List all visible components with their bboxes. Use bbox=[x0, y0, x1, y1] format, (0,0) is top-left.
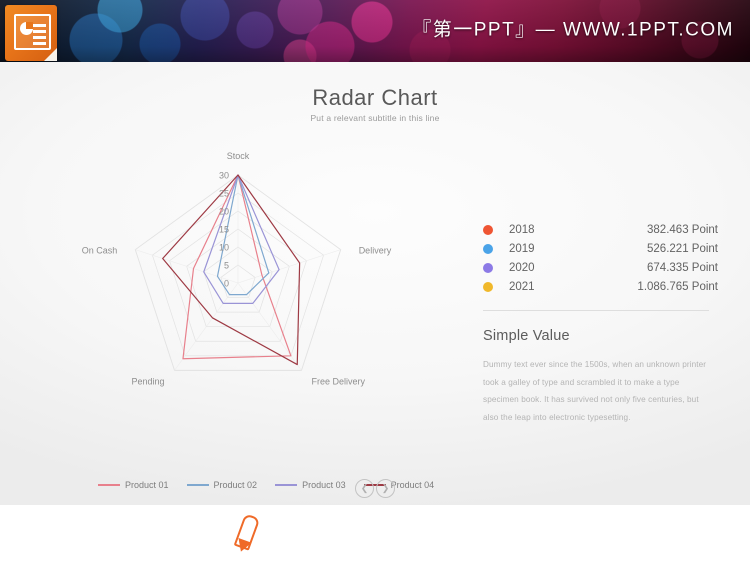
panel-divider bbox=[483, 310, 709, 311]
value-legend-dot bbox=[483, 244, 493, 254]
radar-tick-labels: 051015202530 bbox=[219, 171, 229, 289]
logo-bar-1 bbox=[33, 24, 46, 27]
product-legend-label: Product 01 bbox=[125, 480, 169, 490]
series-3 bbox=[204, 175, 279, 303]
product-legend-label: Product 04 bbox=[391, 480, 435, 490]
value-legend-year: 2020 bbox=[509, 262, 571, 274]
product-legend-item[interactable]: Product 03 bbox=[275, 480, 346, 490]
simple-value-body: Dummy text ever since the 1500s, when an… bbox=[483, 356, 711, 427]
axis-label-pending: Pending bbox=[131, 376, 164, 386]
value-legend-row[interactable]: 2018382.463 Point bbox=[483, 220, 718, 239]
logo-bar-3 bbox=[33, 36, 46, 39]
axis-label-free-delivery: Free Delivery bbox=[312, 376, 366, 386]
radar-axis-labels: StockDeliveryFree DeliveryPendingOn Cash bbox=[82, 151, 392, 386]
tick-label-20: 20 bbox=[219, 207, 229, 217]
value-legend-row[interactable]: 20211.086.765 Point bbox=[483, 277, 718, 296]
prev-slide-button[interactable]: ❮ bbox=[355, 479, 374, 498]
value-legend-dot bbox=[483, 282, 493, 292]
axis-label-stock: Stock bbox=[227, 151, 250, 161]
slide-canvas: Radar Chart Put a relevant subtitle in t… bbox=[0, 62, 750, 505]
tick-label-30: 30 bbox=[219, 171, 229, 181]
value-legend-value: 1.086.765 Point bbox=[571, 281, 718, 293]
page-title: Radar Chart bbox=[0, 85, 750, 111]
slide-page: 『第一PPT』— WWW.1PPT.COM Radar Chart Put a … bbox=[0, 0, 750, 563]
top-banner: 『第一PPT』— WWW.1PPT.COM bbox=[0, 0, 750, 62]
pencil-icon bbox=[232, 515, 258, 553]
logo-page-fold bbox=[44, 48, 57, 61]
product-legend-label: Product 03 bbox=[302, 480, 346, 490]
next-slide-button[interactable]: ❯ bbox=[376, 479, 395, 498]
value-legend-year: 2021 bbox=[509, 281, 571, 293]
product-legend-swatch bbox=[98, 484, 120, 486]
logo-bar-4 bbox=[33, 42, 46, 45]
value-legend-row[interactable]: 2020674.335 Point bbox=[483, 258, 718, 277]
simple-value-heading: Simple Value bbox=[483, 328, 718, 344]
value-legend-value: 674.335 Point bbox=[571, 262, 718, 274]
banner-site-text: 『第一PPT』— WWW.1PPT.COM bbox=[412, 15, 734, 42]
value-legend-dot bbox=[483, 225, 493, 235]
value-legend-value: 526.221 Point bbox=[571, 243, 718, 255]
product-legend-item[interactable]: Product 02 bbox=[187, 480, 258, 490]
spoke-1 bbox=[238, 250, 341, 283]
tick-label-5: 5 bbox=[224, 261, 229, 271]
value-legend-year: 2019 bbox=[509, 243, 571, 255]
logo-bar-2 bbox=[33, 30, 46, 33]
page-subtitle: Put a relevant subtitle in this line bbox=[0, 113, 750, 123]
footer-bar: 第一PPT HTTP://WWW.1PPT.COM bbox=[0, 505, 750, 563]
tick-label-0: 0 bbox=[224, 279, 229, 289]
value-legend-year: 2018 bbox=[509, 224, 571, 236]
slide-nav[interactable]: ❮ ❯ bbox=[355, 479, 395, 498]
value-legend: 2018382.463 Point2019526.221 Point202067… bbox=[483, 220, 718, 296]
axis-label-delivery: Delivery bbox=[359, 246, 392, 256]
right-panel: 2018382.463 Point2019526.221 Point202067… bbox=[483, 220, 718, 427]
radar-chart-svg: 051015202530 StockDeliveryFree DeliveryP… bbox=[75, 147, 420, 447]
product-legend-swatch bbox=[275, 484, 297, 486]
radar-chart: 051015202530 StockDeliveryFree DeliveryP… bbox=[75, 147, 420, 447]
product-legend-label: Product 02 bbox=[214, 480, 258, 490]
value-legend-dot bbox=[483, 263, 493, 273]
value-legend-row[interactable]: 2019526.221 Point bbox=[483, 239, 718, 258]
logo-document-shape bbox=[14, 14, 51, 50]
value-legend-value: 382.463 Point bbox=[571, 224, 718, 236]
axis-label-on-cash: On Cash bbox=[82, 246, 118, 256]
logo-pie-icon bbox=[20, 22, 33, 35]
spoke-4 bbox=[135, 250, 238, 283]
powerpoint-logo-icon bbox=[5, 5, 57, 61]
product-legend-item[interactable]: Product 01 bbox=[98, 480, 169, 490]
product-legend-swatch bbox=[187, 484, 209, 486]
tick-label-15: 15 bbox=[219, 225, 229, 235]
tick-label-10: 10 bbox=[219, 243, 229, 253]
tick-label-25: 25 bbox=[219, 189, 229, 199]
